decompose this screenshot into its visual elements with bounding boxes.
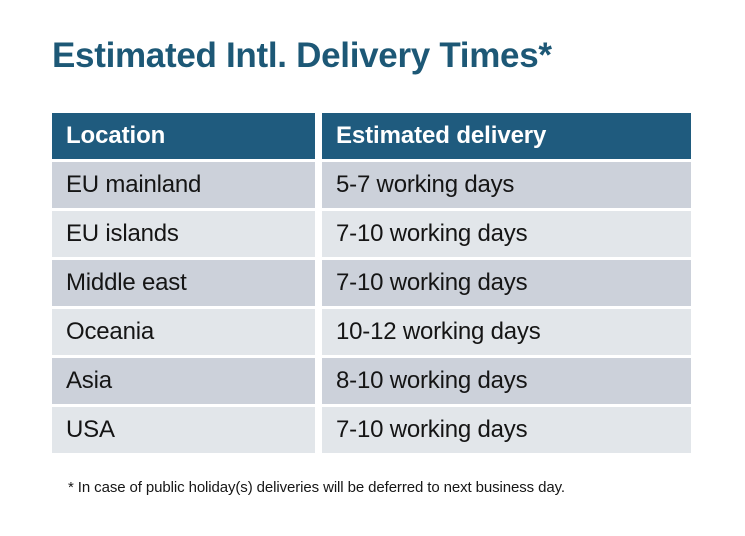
table-row: USA 7-10 working days [52,407,691,453]
cell-estimated-delivery: 10-12 working days [322,309,691,355]
cell-location: Asia [52,358,315,404]
cell-estimated-delivery: 7-10 working days [322,211,691,257]
cell-location: Middle east [52,260,315,306]
cell-location: USA [52,407,315,453]
table-header-row: Location Estimated delivery [52,113,691,159]
cell-estimated-delivery: 7-10 working days [322,407,691,453]
page-title: Estimated Intl. Delivery Times* [52,36,552,76]
column-header-estimated-delivery: Estimated delivery [322,113,691,159]
column-header-location: Location [52,113,315,159]
cell-location: Oceania [52,309,315,355]
delivery-times-table: Location Estimated delivery EU mainland … [52,113,691,453]
cell-estimated-delivery: 7-10 working days [322,260,691,306]
cell-location: EU mainland [52,162,315,208]
cell-location: EU islands [52,211,315,257]
cell-estimated-delivery: 8-10 working days [322,358,691,404]
table-row: Oceania 10-12 working days [52,309,691,355]
table-row: Middle east 7-10 working days [52,260,691,306]
cell-estimated-delivery: 5-7 working days [322,162,691,208]
table-row: EU islands 7-10 working days [52,211,691,257]
delivery-times-infographic: Estimated Intl. Delivery Times* Location… [0,0,745,536]
table-row: EU mainland 5-7 working days [52,162,691,208]
table-row: Asia 8-10 working days [52,358,691,404]
footnote-text: * In case of public holiday(s) deliverie… [68,479,565,496]
